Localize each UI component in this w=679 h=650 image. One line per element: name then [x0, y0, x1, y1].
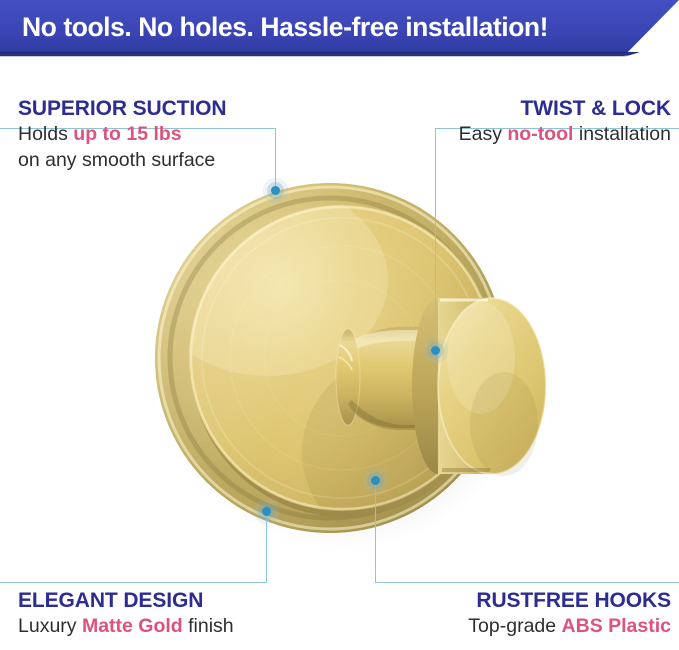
connector-rustfree-hooks-vertical: [375, 480, 376, 583]
callout-line1-accent-superior-suction: up to 15 lbs: [73, 123, 181, 145]
connector-twist-lock-vertical: [435, 128, 436, 351]
callout-line1-post-twist-lock: installation: [573, 123, 671, 145]
callout-line1-elegant-design: Luxury Matte Gold finish: [18, 613, 234, 639]
callout-heading-superior-suction: SUPERIOR SUCTION: [18, 96, 226, 121]
callout-line2-superior-suction: on any smooth surface: [18, 147, 226, 173]
callout-line1-superior-suction: Holds up to 15 lbs: [18, 121, 226, 147]
callout-rustfree-hooks: RUSTFREE HOOKS Top-grade ABS Plastic: [251, 588, 671, 639]
callout-line1-pre-elegant-design: Luxury: [18, 615, 82, 637]
callout-heading-twist-lock: TWIST & LOCK: [251, 96, 671, 121]
callout-line1-pre-superior-suction: Holds: [18, 123, 73, 145]
connector-elegant-design-vertical: [266, 511, 267, 583]
callout-superior-suction: SUPERIOR SUCTION Holds up to 15 lbs on a…: [18, 96, 226, 173]
callout-line1-accent-elegant-design: Matte Gold: [82, 615, 183, 637]
callout-line1-pre-twist-lock: Easy: [459, 123, 508, 145]
hotspot-dot-twist-lock[interactable]: [431, 346, 440, 355]
callout-line1-accent-twist-lock: no-tool: [507, 123, 573, 145]
callout-heading-elegant-design: ELEGANT DESIGN: [18, 588, 234, 613]
connector-elegant-design-horizontal: [0, 582, 267, 583]
hotspot-dot-rustfree-hooks[interactable]: [371, 476, 380, 485]
callout-line1-post-elegant-design: finish: [183, 615, 234, 637]
callout-line1-rustfree-hooks: Top-grade ABS Plastic: [251, 613, 671, 639]
hotspot-dot-elegant-design[interactable]: [262, 507, 271, 516]
callout-line1-twist-lock: Easy no-tool installation: [251, 121, 671, 147]
infographic-canvas: No tools. No holes. Hassle-free installa…: [0, 0, 679, 650]
callout-line1-pre-rustfree-hooks: Top-grade: [468, 615, 561, 637]
callout-twist-lock: TWIST & LOCK Easy no-tool installation: [251, 96, 671, 147]
callout-heading-rustfree-hooks: RUSTFREE HOOKS: [251, 588, 671, 613]
connector-rustfree-hooks-horizontal: [375, 582, 679, 583]
callout-elegant-design: ELEGANT DESIGN Luxury Matte Gold finish: [18, 588, 234, 639]
hotspot-dot-superior-suction[interactable]: [271, 186, 280, 195]
callout-line1-accent-rustfree-hooks: ABS Plastic: [562, 615, 671, 637]
